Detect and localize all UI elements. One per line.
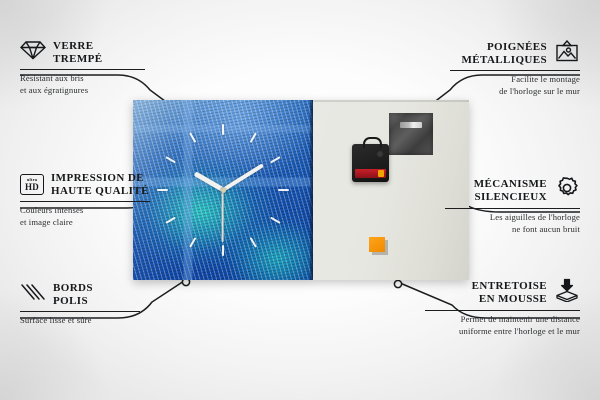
clock-front-panel	[133, 100, 313, 280]
feature-rule	[450, 70, 580, 71]
clock-tick	[278, 189, 289, 191]
feature-rule	[425, 310, 580, 311]
ultra-hd-icon: ultra HD	[20, 174, 44, 195]
clock-tick	[165, 217, 176, 224]
clock-minute-hand	[222, 163, 264, 191]
feature-bords-polis: BORDS POLIS Surface lisse et sûre	[20, 282, 140, 327]
feature-description: Couleurs intenses et image claire	[20, 205, 150, 228]
clock-tick	[189, 237, 196, 248]
clock-face	[133, 100, 313, 280]
feature-rule	[445, 208, 580, 209]
clock-tick	[250, 237, 257, 248]
product-image	[133, 100, 469, 280]
clock-tick	[250, 132, 257, 143]
feature-description: Surface lisse et sûre	[20, 315, 140, 326]
feature-verre-trempe: VERRE TREMPÉ Résistant aux bris et aux é…	[20, 40, 145, 96]
foam-spacer	[369, 237, 385, 252]
clock-tick	[189, 132, 196, 143]
gear-icon	[554, 176, 580, 205]
feature-title: VERRE TREMPÉ	[53, 40, 102, 66]
feature-poignees-metalliques: POIGNÉES MÉTALLIQUES Facilite le montage…	[450, 40, 580, 97]
feature-rule	[20, 201, 150, 202]
feature-title: MÉCANISME SILENCIEUX	[474, 178, 547, 204]
clock-tick	[270, 217, 281, 224]
feature-rule	[20, 69, 145, 70]
hanger-slot	[400, 122, 422, 128]
connector-dot-entretoise	[394, 280, 401, 287]
feature-impression-hd: ultra HD IMPRESSION DE HAUTE QUALITÉ Cou…	[20, 172, 150, 228]
clock-movement-box	[352, 144, 389, 182]
clock-tick	[157, 189, 168, 191]
metal-hanging-plate	[389, 113, 433, 155]
clock-tick	[222, 124, 224, 135]
clock-tick	[165, 156, 176, 163]
feature-description: Permet de maintenir une distance uniform…	[425, 314, 580, 337]
clock-tick	[270, 156, 281, 163]
polished-edges-icon	[20, 282, 46, 307]
movement-hook	[363, 137, 382, 148]
clock-tick	[222, 245, 224, 256]
picture-hanger-icon	[554, 40, 580, 67]
battery	[355, 169, 386, 178]
feature-title: ENTRETOISE EN MOUSSE	[472, 280, 547, 306]
clock-hub	[221, 188, 226, 193]
feature-title: BORDS POLIS	[53, 282, 93, 308]
feature-title: POIGNÉES MÉTALLIQUES	[462, 41, 548, 67]
feature-entretoise-mousse: ENTRETOISE EN MOUSSE Permet de maintenir…	[425, 278, 580, 337]
clock-hour-hand	[193, 171, 224, 192]
feature-description: Les aiguilles de l'horloge ne font aucun…	[445, 212, 580, 235]
foam-spacer-icon	[554, 278, 580, 307]
feature-title: IMPRESSION DE HAUTE QUALITÉ	[51, 172, 149, 198]
clock-second-hand	[222, 190, 224, 242]
feature-rule	[20, 311, 140, 312]
feature-description: Résistant aux bris et aux égratignures	[20, 73, 145, 96]
back-panel-top-edge	[313, 100, 469, 102]
feature-mecanisme-silencieux: MÉCANISME SILENCIEUX Les aiguilles de l'…	[445, 176, 580, 235]
diamond-icon	[20, 40, 46, 65]
infographic-canvas: VERRE TREMPÉ Résistant aux bris et aux é…	[0, 0, 600, 400]
movement-adjust-dial	[376, 150, 384, 158]
feature-description: Facilite le montage de l'horloge sur le …	[450, 74, 580, 97]
